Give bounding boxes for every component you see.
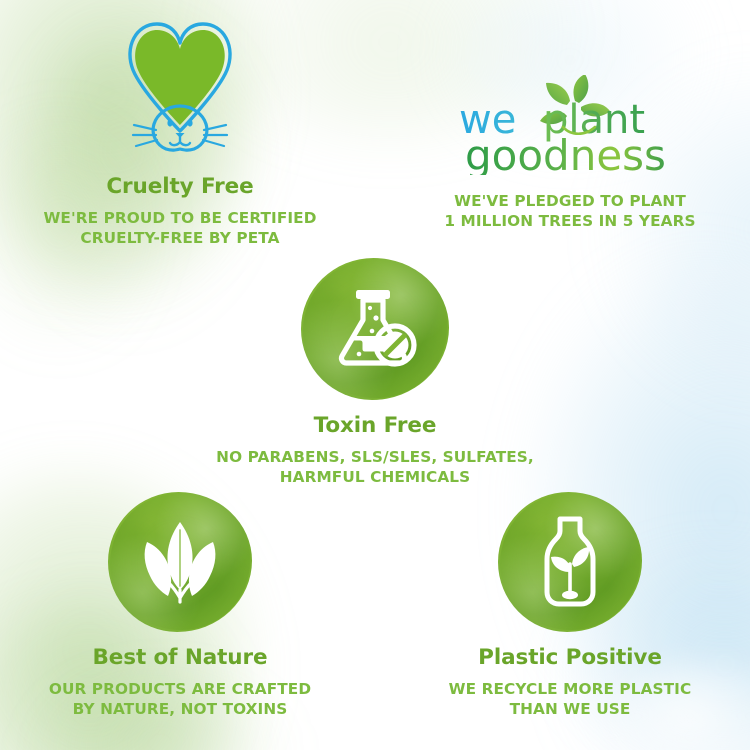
badge-subtitle-line-1: No PARABENS, SLS/SLES, SULFATES, [195, 447, 555, 467]
badge-best-of-nature: Best of Nature OUR PRODUCTS ARE CRAFTED … [0, 492, 360, 720]
badge-subtitle-line-1: WE'VE PLEDGED TO PLANT [390, 191, 750, 211]
badge-subtitle-line-1: OUR PRODUCTS ARE CRAFTED [0, 679, 360, 699]
plastic-positive-badge-circle [498, 492, 642, 632]
we-plant-goodness-logo: we plant goodness [455, 75, 685, 175]
best-of-nature-badge-circle [108, 492, 252, 632]
badge-subtitle-line-1: WE RECYCLE MORE PLASTIC [390, 679, 750, 699]
badge-title-toxin-free: Toxin Free [195, 413, 555, 438]
logo-word-goodness: goodness [465, 131, 666, 175]
badge-subtitle-line-1: WE'RE PROUD TO BE CERTIFIED [0, 208, 360, 228]
three-leaves-icon [139, 520, 221, 604]
badge-subtitle-line-2: HARMFUL CHEMICALS [195, 467, 555, 487]
badge-toxin-free: Toxin Free No PARABENS, SLS/SLES, SULFAT… [195, 258, 555, 488]
bottle-sprout-icon [532, 516, 608, 608]
badge-subtitle-line-2: THAN WE USE [390, 699, 750, 719]
badge-cruelty-free: Cruelty Free WE'RE PROUD TO BE CERTIFIED… [0, 18, 360, 249]
brand-values-infographic: Cruelty Free WE'RE PROUD TO BE CERTIFIED… [0, 0, 750, 750]
badge-plastic-positive: Plastic Positive WE RECYCLE MORE PLASTIC… [390, 492, 750, 720]
badge-title-best-of-nature: Best of Nature [0, 645, 360, 670]
badge-subtitle-line-2: BY NATURE, NOT TOXINS [0, 699, 360, 719]
badge-title-plastic-positive: Plastic Positive [390, 645, 750, 670]
badge-we-plant-goodness: we plant goodness WE'VE PLEDGED TO PLANT… [390, 75, 750, 232]
badge-subtitle-line-2: CRUELTY-FREE BY PETA [0, 228, 360, 248]
peta-bunny-icon [116, 18, 244, 160]
flask-no-toxins-icon [332, 288, 418, 370]
badge-subtitle-line-2: 1 MILLION TREES IN 5 YEARS [390, 211, 750, 231]
badge-title-cruelty-free: Cruelty Free [0, 174, 360, 199]
toxin-free-badge-circle [301, 258, 449, 400]
